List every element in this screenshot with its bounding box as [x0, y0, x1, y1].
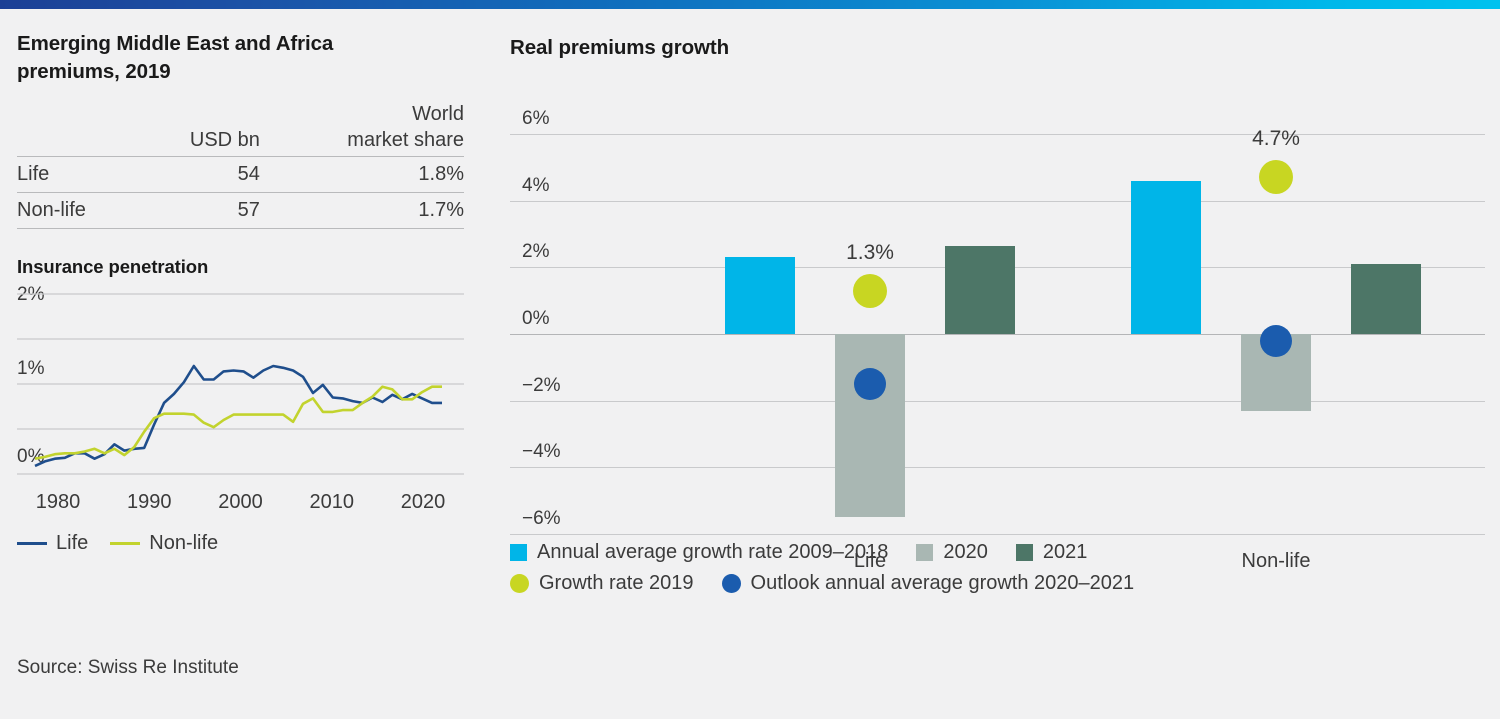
brand-gradient-bar — [0, 0, 1500, 9]
legend-line-life-icon — [17, 542, 47, 545]
bar-life-annual-average-growth-rate-2009-2018 — [725, 257, 795, 334]
row-label-nonlife: Non-life — [17, 193, 137, 229]
table-header-world: World — [260, 101, 464, 127]
table-header-usd-bn: USD bn — [137, 101, 259, 157]
xtick-2000: 2000 — [200, 491, 282, 514]
bar-non-life-2021 — [1351, 264, 1421, 334]
line-series-life — [35, 366, 442, 466]
bar-ytick-4: 4% — [522, 175, 549, 197]
table-header-world-market-share: World market share — [260, 101, 464, 157]
row-label-life: Life — [17, 157, 137, 193]
table-header-market-share: market share — [260, 127, 464, 153]
row-nonlife-usd-bn: 57 — [137, 193, 259, 229]
row-life-usd-bn: 54 — [137, 157, 259, 193]
legend-swatch-gray-icon — [916, 544, 933, 561]
source-note: Source: Swiss Re Institute — [17, 657, 239, 679]
left-panel-title-line2: premiums, 2019 — [17, 60, 171, 83]
left-panel-title-line1: Emerging Middle East and Africa — [17, 32, 333, 55]
legend-label-annual-average: Annual average growth rate 2009–2018 — [537, 541, 888, 564]
legend-item-2020[interactable]: 2020 — [916, 541, 988, 564]
gridline-0 — [510, 334, 1485, 335]
xtick-2010: 2010 — [291, 491, 373, 514]
bar-chart-legend-row-2: Growth rate 2019 Outlook annual average … — [510, 572, 1485, 595]
legend-label-2020: 2020 — [943, 541, 988, 564]
marker-non-life-growth-rate-2019 — [1259, 160, 1293, 194]
gridline-minus4 — [510, 467, 1485, 468]
bar-ytick-2: 2% — [522, 241, 549, 263]
table-header-blank — [17, 101, 137, 157]
marker-non-life-outlook-annual-average-growth-2020-2021 — [1260, 325, 1292, 357]
bar-chart-legend: Annual average growth rate 2009–2018 202… — [510, 541, 1485, 603]
infographic-page: Emerging Middle East and Africa premiums… — [0, 0, 1500, 719]
bar-chart-title: Real premiums growth — [510, 36, 1485, 60]
xtick-1980: 1980 — [17, 491, 99, 514]
legend-item-nonlife[interactable]: Non-life — [110, 532, 218, 555]
left-panel: Emerging Middle East and Africa premiums… — [17, 30, 464, 526]
legend-dot-darkblue-icon — [722, 574, 741, 593]
gridline-minus2 — [510, 401, 1485, 402]
premiums-table: USD bn World market share Life 54 1.8% N… — [17, 101, 464, 229]
gridline-minus6 — [510, 534, 1485, 535]
data-label-life: 1.3% — [836, 241, 904, 265]
bar-non-life-annual-average-growth-rate-2009-2018 — [1131, 181, 1201, 334]
bar-chart-legend-row-1: Annual average growth rate 2009–2018 202… — [510, 541, 1485, 564]
penetration-line-plot — [17, 284, 464, 489]
gridline-6 — [510, 134, 1485, 135]
row-life-market-share: 1.8% — [260, 157, 464, 193]
gridline-4 — [510, 201, 1485, 202]
legend-swatch-lightblue-icon — [510, 544, 527, 561]
real-premiums-growth-plot: 6%4%2%0%−2%−4%−6%1.3%4.7%LifeNon-life — [510, 68, 1485, 538]
xtick-2020: 2020 — [382, 491, 464, 514]
insurance-penetration-chart: 2% 1% 0% 1980 1990 2000 2010 2020 Life N… — [17, 284, 464, 526]
bar-ytick-minus2: −2% — [522, 375, 561, 397]
table-header-row: USD bn World market share — [17, 101, 464, 157]
row-nonlife-market-share: 1.7% — [260, 193, 464, 229]
penetration-legend: Life Non-life — [17, 532, 218, 555]
legend-label-life: Life — [56, 532, 88, 555]
legend-label-2021: 2021 — [1043, 541, 1088, 564]
legend-item-life[interactable]: Life — [17, 532, 88, 555]
left-panel-title: Emerging Middle East and Africa premiums… — [17, 30, 464, 86]
legend-label-outlook: Outlook annual average growth 2020–2021 — [751, 572, 1135, 595]
bar-ytick-0: 0% — [522, 308, 549, 330]
data-label-non-life: 4.7% — [1242, 127, 1310, 151]
right-panel: Real premiums growth 6%4%2%0%−2%−4%−6%1.… — [510, 36, 1485, 538]
table-row: Non-life 57 1.7% — [17, 193, 464, 229]
bar-life-2021 — [945, 246, 1015, 334]
legend-line-nonlife-icon — [110, 542, 140, 545]
marker-life-outlook-annual-average-growth-2020-2021 — [854, 368, 886, 400]
legend-item-2021[interactable]: 2021 — [1016, 541, 1088, 564]
bar-life-2020 — [835, 334, 905, 517]
legend-swatch-green-icon — [1016, 544, 1033, 561]
legend-label-growth-rate-2019: Growth rate 2019 — [539, 572, 694, 595]
legend-item-annual-average-2009-2018[interactable]: Annual average growth rate 2009–2018 — [510, 541, 888, 564]
marker-life-growth-rate-2019 — [853, 274, 887, 308]
xtick-1990: 1990 — [108, 491, 190, 514]
bar-ytick-6: 6% — [522, 108, 549, 130]
penetration-chart-title: Insurance penetration — [17, 256, 464, 278]
legend-item-growth-rate-2019[interactable]: Growth rate 2019 — [510, 572, 694, 595]
line-series-non-life — [35, 387, 442, 459]
legend-dot-yellow-icon — [510, 574, 529, 593]
table-row: Life 54 1.8% — [17, 157, 464, 193]
bar-ytick-minus6: −6% — [522, 508, 561, 530]
bar-ytick-minus4: −4% — [522, 441, 561, 463]
penetration-x-axis: 1980 1990 2000 2010 2020 — [17, 491, 464, 514]
legend-item-outlook-2020-2021[interactable]: Outlook annual average growth 2020–2021 — [722, 572, 1135, 595]
legend-label-nonlife: Non-life — [149, 532, 218, 555]
